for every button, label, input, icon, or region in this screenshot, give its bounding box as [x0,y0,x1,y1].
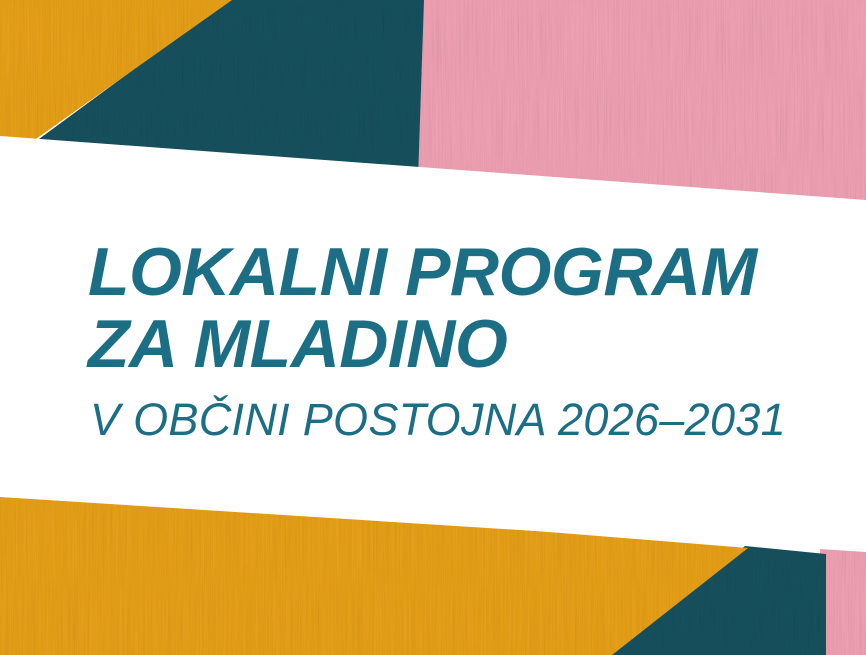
page-title-line-1: LOKALNI PROGRAM [88,236,848,308]
page-subtitle: V OBČINI POSTOJNA 2026–2031 [90,394,848,446]
cover-page: LOKALNI PROGRAM ZA MLADINO V OBČINI POST… [0,0,866,655]
page-title-line-2: ZA MLADINO [88,308,848,380]
cover-text-block: LOKALNI PROGRAM ZA MLADINO V OBČINI POST… [88,236,848,446]
artwork-top-band [0,0,866,210]
artwork-bottom-band [0,480,866,655]
